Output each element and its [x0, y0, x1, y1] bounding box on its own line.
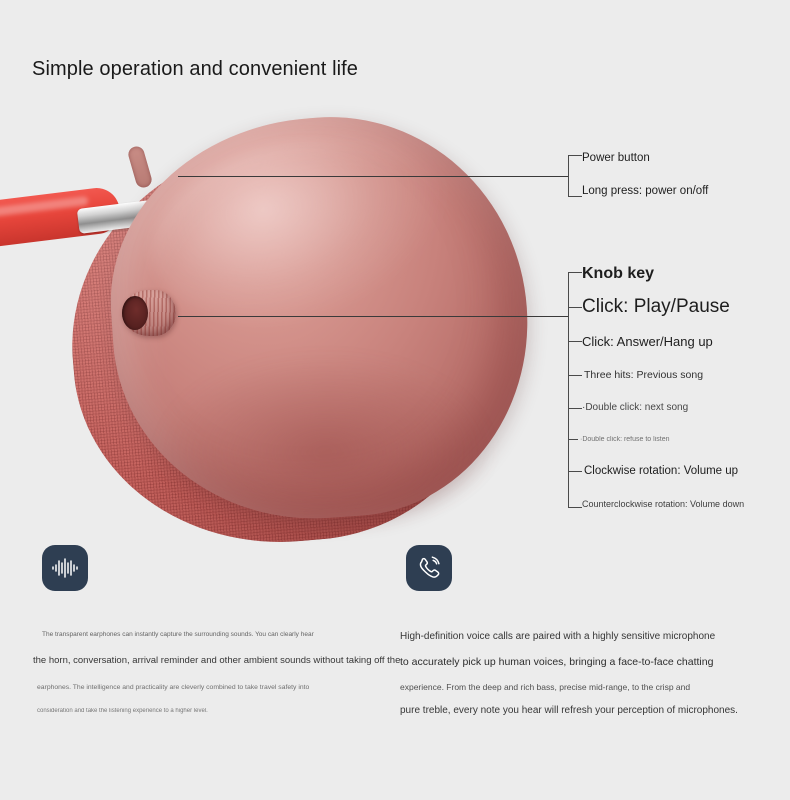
annotation-long-press: Long press: power on/off	[582, 186, 708, 198]
annotation-knob-key: Knob key	[582, 266, 654, 282]
feature-1-line-1: The transparent earphones can instantly …	[42, 631, 314, 638]
digital-crown-knob-recess	[122, 296, 148, 330]
infographic-page: Simple operation and convenient life Pow…	[0, 0, 790, 800]
feature-2-line-1: High-definition voice calls are paired w…	[400, 631, 715, 642]
annotation-label: Three hits: Previous song	[584, 369, 703, 381]
annotation-power-button: Power button	[582, 153, 650, 165]
feature-2-line-3: experience. From the deep and rich bass,…	[400, 682, 690, 692]
annotation-counterclockwise-volume-down: Counterclockwise rotation: Volume down	[582, 500, 744, 509]
annotation-click-play-pause: Click: Play/Pause	[582, 297, 730, 316]
feature-1-icon-badge	[42, 545, 88, 591]
phone-call-icon	[415, 554, 443, 582]
annotation-double-click-next: ·Double click: next song	[582, 403, 688, 413]
feature-2-line-4: pure treble, every note you hear will re…	[400, 705, 738, 716]
product-image	[0, 100, 580, 540]
annotation-label: Clockwise rotation: Volume up	[584, 465, 738, 477]
audio-waveform-icon	[51, 557, 79, 579]
feature-1-line-4: consideration and take the listening exp…	[37, 708, 208, 714]
feature-2-line-2: to accurately pick up human voices, brin…	[400, 656, 713, 668]
feature-1-line-3: earphones. The intelligence and practica…	[37, 684, 309, 691]
annotation-label: Click: Play/Pause	[582, 296, 730, 317]
annotation-label: Counterclockwise rotation: Volume down	[582, 499, 744, 509]
paragraph-line: The transparent earphones can instantly …	[42, 631, 314, 638]
paragraph-line: consideration and take the listening exp…	[37, 708, 208, 714]
power-button-on-product	[127, 145, 154, 190]
paragraph-line: the horn, conversation, arrival reminder…	[33, 655, 400, 666]
annotation-label: Long press: power on/off	[582, 185, 708, 197]
annotation-three-hits-previous: Three hits: Previous song	[584, 370, 703, 381]
paragraph-line: High-definition voice calls are paired w…	[400, 631, 715, 642]
paragraph-line: earphones. The intelligence and practica…	[37, 684, 309, 691]
leader-line-knob	[178, 316, 568, 317]
annotation-label: Click: Answer/Hang up	[582, 334, 713, 349]
annotation-label: ·Double click: next song	[582, 402, 688, 413]
annotation-label: ·Double click: refuse to listen	[580, 436, 669, 443]
paragraph-line: pure treble, every note you hear will re…	[400, 705, 738, 716]
annotation-label: Knob key	[582, 265, 654, 282]
leader-line-power	[178, 176, 568, 177]
annotation-clockwise-volume-up: Clockwise rotation: Volume up	[584, 466, 738, 478]
ear-cup-shadow	[150, 350, 500, 520]
annotation-label: Power button	[582, 152, 650, 164]
annotation-double-click-refuse: ·Double click: refuse to listen	[580, 436, 669, 443]
paragraph-line: to accurately pick up human voices, brin…	[400, 656, 713, 668]
paragraph-line: experience. From the deep and rich bass,…	[400, 682, 690, 692]
annotation-click-answer-hangup: Click: Answer/Hang up	[582, 335, 713, 348]
feature-1-line-2: the horn, conversation, arrival reminder…	[33, 655, 400, 666]
feature-2-icon-badge	[406, 545, 452, 591]
page-title: Simple operation and convenient life	[32, 58, 358, 81]
